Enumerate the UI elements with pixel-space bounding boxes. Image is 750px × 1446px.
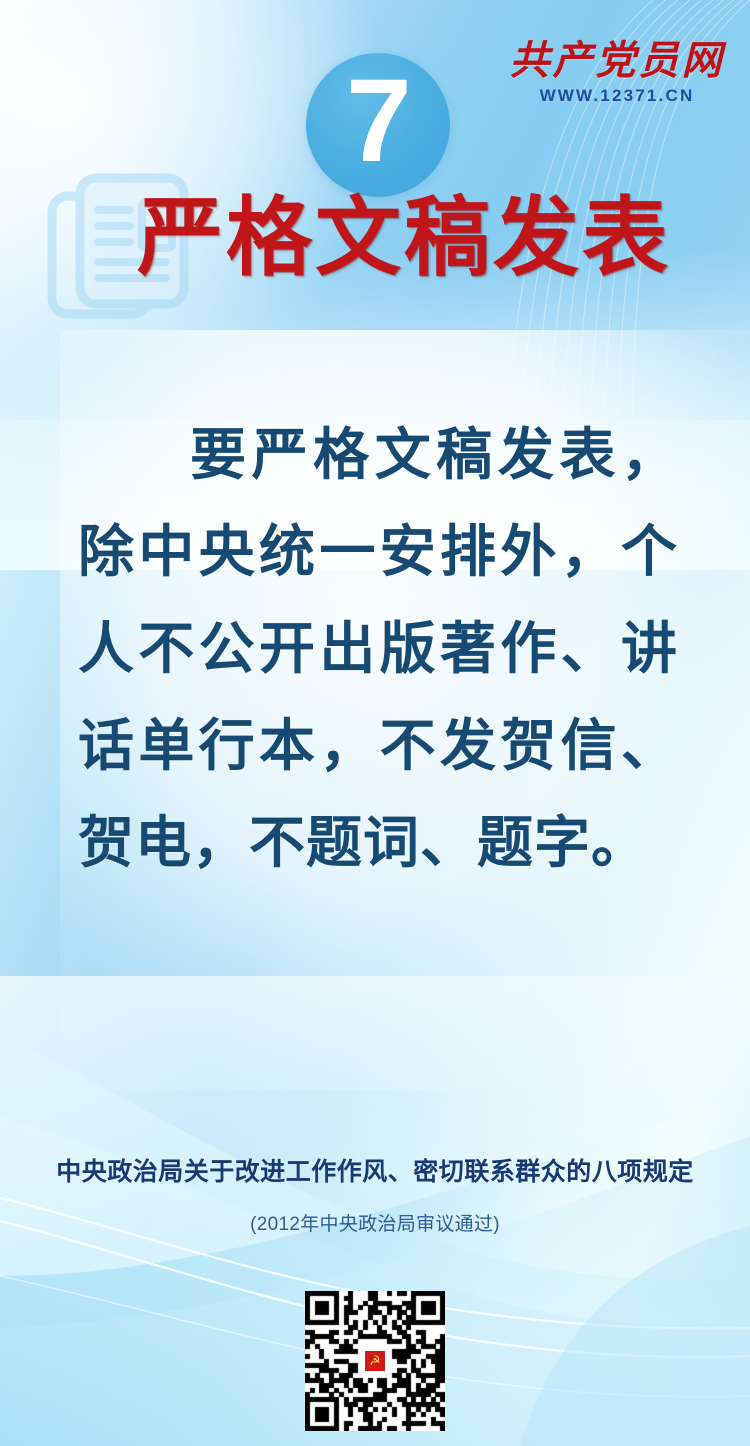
qr-code[interactable]: ☭ [305,1291,445,1431]
brand-logo: 共产党员网 WWW.12371.CN [502,40,732,106]
poster-canvas: 7 共产党员网 WWW.12371.CN 严格文稿发表 要严格文稿发表，除中央统… [0,0,750,1446]
party-emblem-glyph: ☭ [369,1355,381,1368]
party-emblem-icon: ☭ [364,1350,386,1372]
adoption-note: (2012年中央政治局审议通过) [0,1209,750,1236]
brand-url-text: WWW.12371.CN [502,86,732,106]
regulation-title: 中央政治局关于改进工作作风、密切联系群众的八项规定 [0,1152,750,1188]
step-number-text: 7 [306,53,450,197]
body-paragraph: 要严格文稿发表，除中央统一安排外，个人不公开出版著作、讲话单行本，不发贺信、贺电… [78,406,678,891]
brand-name-text: 共产党员网 [502,40,732,82]
page-title: 严格文稿发表 [0,195,750,281]
step-number-badge: 7 [306,53,450,197]
